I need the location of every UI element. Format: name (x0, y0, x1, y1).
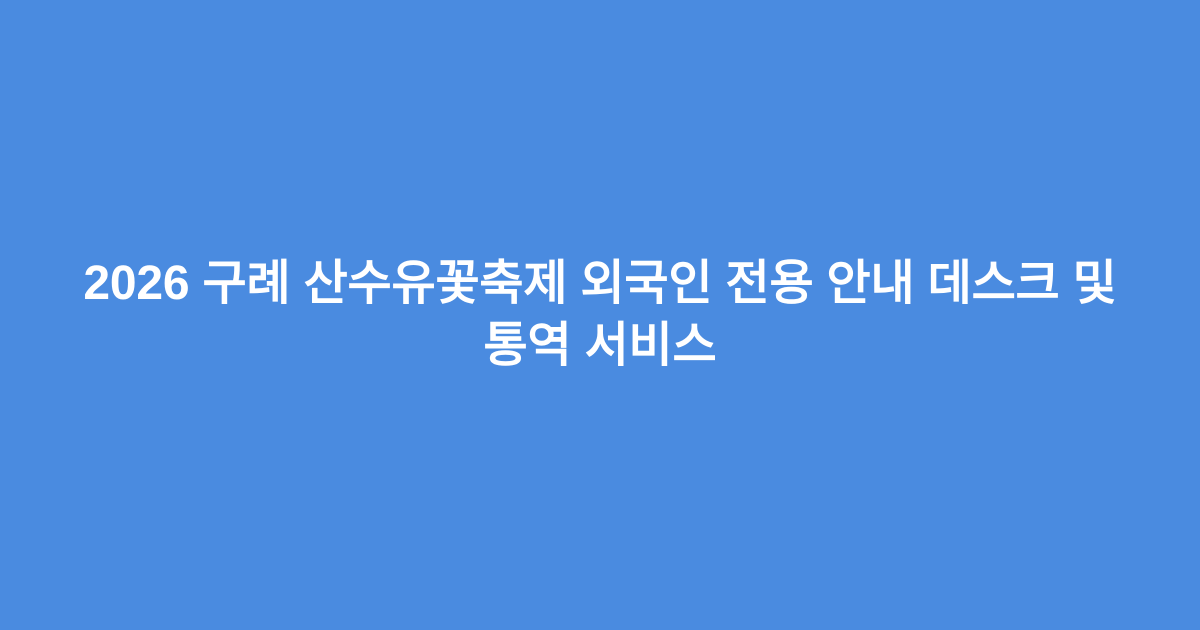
card-content: 2026 구례 산수유꽃축제 외국인 전용 안내 데스크 및 통역 서비스 (60, 253, 1140, 377)
page-title: 2026 구례 산수유꽃축제 외국인 전용 안내 데스크 및 통역 서비스 (60, 253, 1140, 377)
share-card: 2026 구례 산수유꽃축제 외국인 전용 안내 데스크 및 통역 서비스 (0, 0, 1200, 630)
